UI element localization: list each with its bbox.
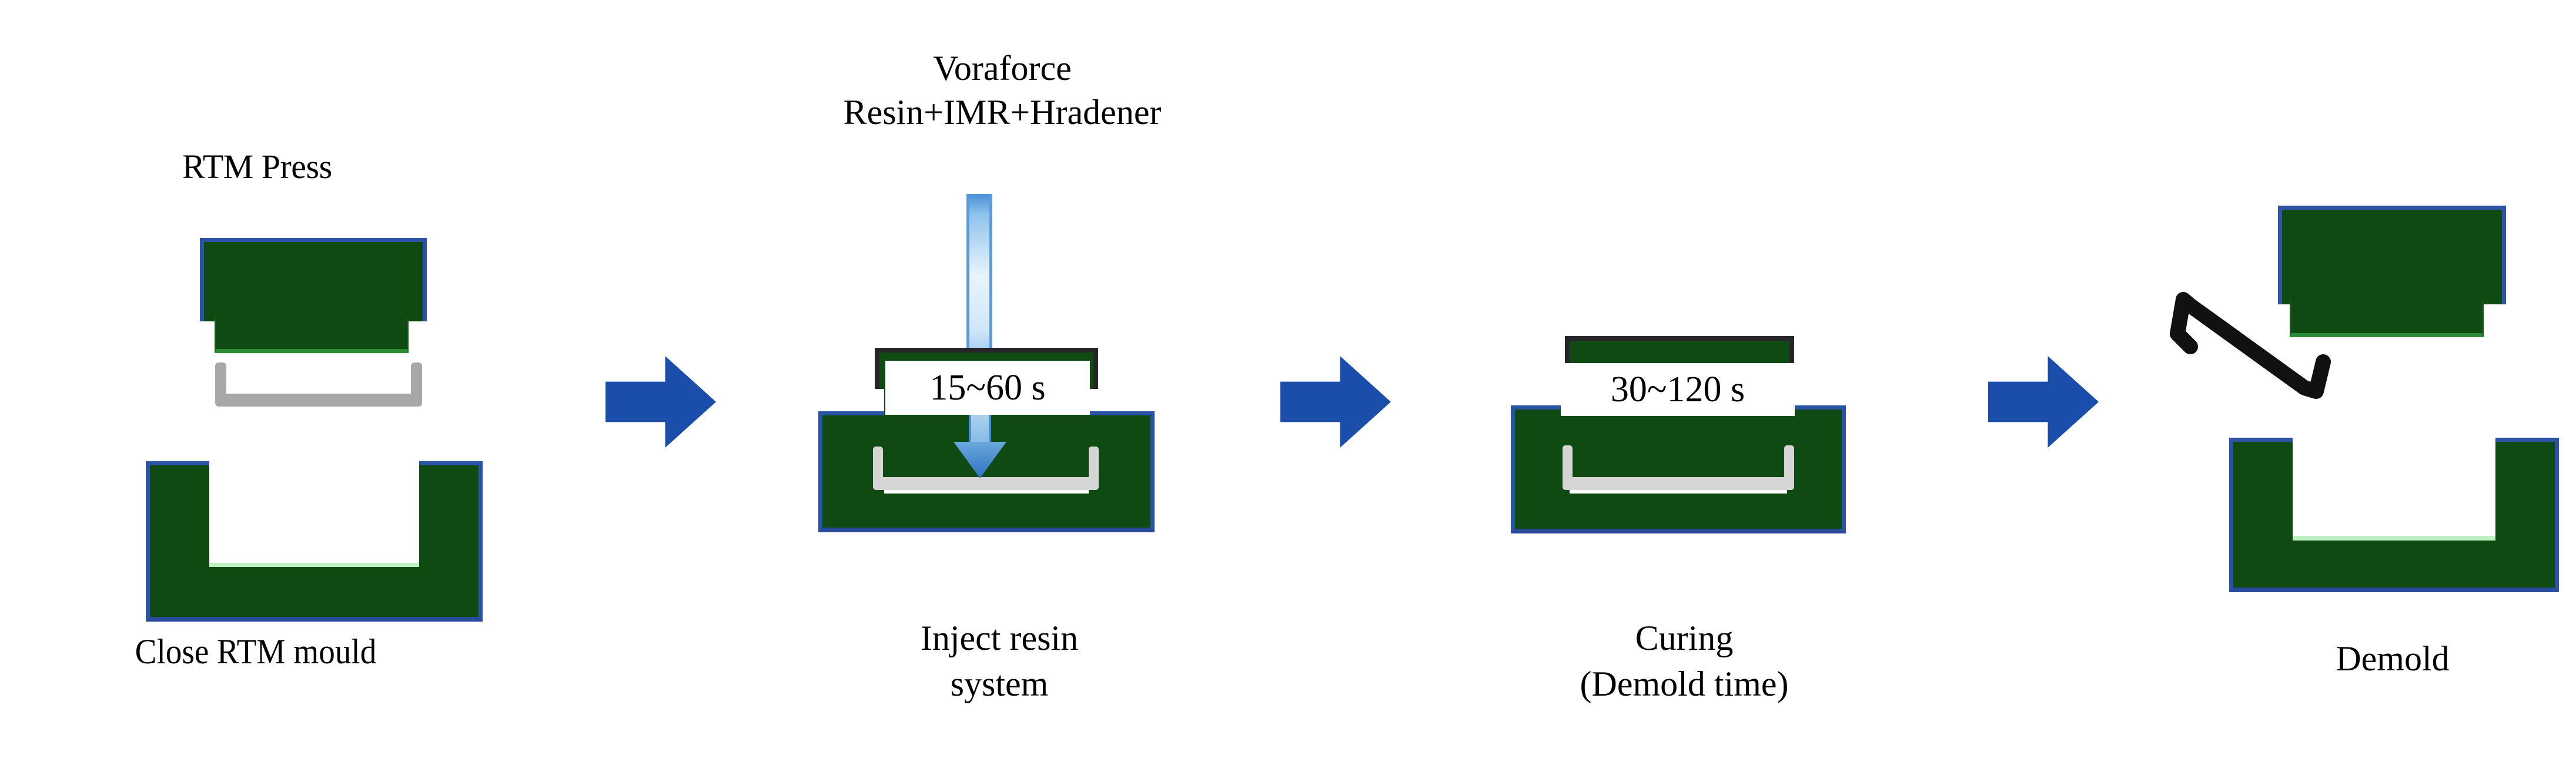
stage1-lower-mould-right-wall: [419, 461, 483, 570]
stage1-lower-mould-left-wall: [146, 461, 209, 570]
stage3-time-label: 30~120 s: [1561, 363, 1795, 416]
stage1-lower-mould-base: [146, 567, 483, 622]
stage2-preform-base: [873, 477, 1099, 490]
resin-material-label-line1: Voraforce: [785, 47, 1220, 90]
stage1-preform-base: [215, 394, 422, 407]
resin-material-label-line2: Resin+IMR+Hradener: [785, 91, 1220, 134]
stage3-lower-mould-right-wall: [1787, 405, 1846, 499]
process-arrow-1-icon: [605, 356, 716, 448]
stage1-upper-mould-head: [200, 238, 427, 321]
diagram-canvas: RTM Press Close RTM mould Voraforce Resi…: [0, 0, 2576, 772]
stage3-caption-line2: (Demold time): [1502, 663, 1866, 706]
stage2-lower-mould-base: [818, 494, 1155, 532]
rtm-press-label: RTM Press: [182, 150, 332, 184]
stage2-caption-line2: system: [817, 663, 1182, 706]
stage4-lower-mould-base: [2229, 541, 2559, 592]
stage3-preform-base: [1563, 477, 1794, 490]
resin-stream-upper: [966, 194, 992, 364]
stage4-caption: Demold: [2210, 637, 2575, 680]
stage4-lower-mould-left-wall: [2229, 438, 2293, 542]
stage1-caption: Close RTM mould: [75, 630, 437, 673]
process-arrow-2-icon: [1280, 356, 1391, 448]
stage2-time-label: 15~60 s: [885, 361, 1090, 415]
stage4-lower-mould-right-wall: [2495, 438, 2559, 542]
process-arrow-3-icon: [1988, 356, 2099, 448]
stage3-lower-mould-left-wall: [1511, 405, 1570, 499]
stage1-upper-mould-plug: [215, 318, 409, 353]
demolded-part-icon: [2169, 288, 2422, 423]
stage3-lower-mould-base: [1511, 494, 1846, 533]
stage2-caption-line1: Inject resin: [817, 617, 1182, 660]
stage3-caption-line1: Curing: [1502, 617, 1866, 660]
